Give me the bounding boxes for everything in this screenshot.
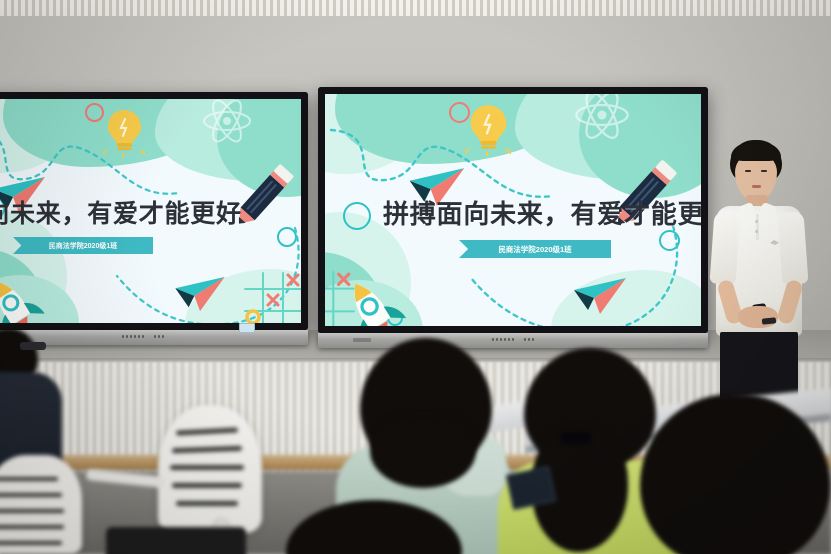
panel-screen-right[interactable]: 拼搏面向未来，有爱才能更好 民商法学院2020级1班 xyxy=(325,94,701,326)
presenter-eye-right xyxy=(761,170,767,172)
panel-button-cluster[interactable] xyxy=(122,335,164,338)
paper-plane-icon xyxy=(173,275,229,313)
presenter-sleeve-right xyxy=(778,211,809,285)
chair-slot xyxy=(172,483,242,488)
atom-icon xyxy=(201,99,253,147)
chair-slot xyxy=(176,501,238,506)
chair-slot xyxy=(0,509,64,513)
audience-head xyxy=(640,394,830,554)
office-chair-left[interactable] xyxy=(0,455,96,554)
tic-tac-toe-decor xyxy=(243,271,301,323)
ceiling-slat-band xyxy=(0,0,831,16)
atom-icon xyxy=(573,94,631,144)
panel-indicator-chip xyxy=(239,323,255,333)
panel-screen-left[interactable]: 拼搏面向未来，有爱才能更好 民商法学院2020级1班 xyxy=(0,99,301,323)
presenter-hair-fringe xyxy=(731,141,781,161)
classroom-photo-scene: 拼搏面向未来，有爱才能更好 民商法学院2020级1班 xyxy=(0,0,831,554)
rocket-icon xyxy=(333,276,413,326)
chair-seat xyxy=(106,527,246,554)
light-bulb-icon xyxy=(465,102,511,156)
presenter-speaker xyxy=(700,140,830,430)
office-chair-center[interactable] xyxy=(148,405,278,554)
slide-title: 拼搏面向未来，有爱才能更好 xyxy=(383,194,701,231)
presenter-shirt-button xyxy=(755,230,758,233)
rocket-icon xyxy=(0,275,51,323)
audience-woman-dark-hair-right xyxy=(640,394,831,554)
slide-circle xyxy=(85,103,104,122)
chair-slot xyxy=(0,493,62,497)
slide-title: 拼搏面向未来，有爱才能更好 xyxy=(0,194,242,230)
audience-person-front-bottom xyxy=(286,500,466,554)
chair-slot xyxy=(0,477,58,481)
chair-slot xyxy=(0,525,64,529)
slide-ribbon: 民商法学院2020级1班 xyxy=(13,237,153,254)
slide-ribbon: 民商法学院2020级1班 xyxy=(459,240,611,258)
audience-hair-fall xyxy=(370,414,476,488)
presenter-sleeve-left xyxy=(710,211,741,285)
audience-glasses xyxy=(20,342,46,350)
presenter-shirt-button xyxy=(755,220,758,223)
slide-ribbon-label: 民商法学院2020级1班 xyxy=(498,244,571,255)
presenter-placket xyxy=(756,214,759,240)
slide-ribbon-label: 民商法学院2020级1班 xyxy=(49,241,117,251)
light-bulb-icon xyxy=(103,107,145,157)
presenter-mouth xyxy=(752,185,761,188)
audience-head xyxy=(286,500,462,554)
chair-slot xyxy=(0,541,62,545)
audience-hair-tie xyxy=(560,432,592,444)
paper-plane-icon xyxy=(571,276,631,316)
chair-slot xyxy=(170,465,244,470)
presenter-eye-left xyxy=(745,170,751,172)
interactive-flat-panel-left[interactable]: 拼搏面向未来，有爱才能更好 民商法学院2020级1班 xyxy=(0,92,308,330)
interactive-flat-panel-right[interactable]: 拼搏面向未来，有爱才能更好 民商法学院2020级1班 xyxy=(318,87,708,333)
slide-left: 拼搏面向未来，有爱才能更好 民商法学院2020级1班 xyxy=(0,99,301,323)
slide-right: 拼搏面向未来，有爱才能更好 民商法学院2020级1班 xyxy=(325,94,701,326)
chair-backrest xyxy=(0,455,82,554)
dashed-path xyxy=(445,222,693,326)
